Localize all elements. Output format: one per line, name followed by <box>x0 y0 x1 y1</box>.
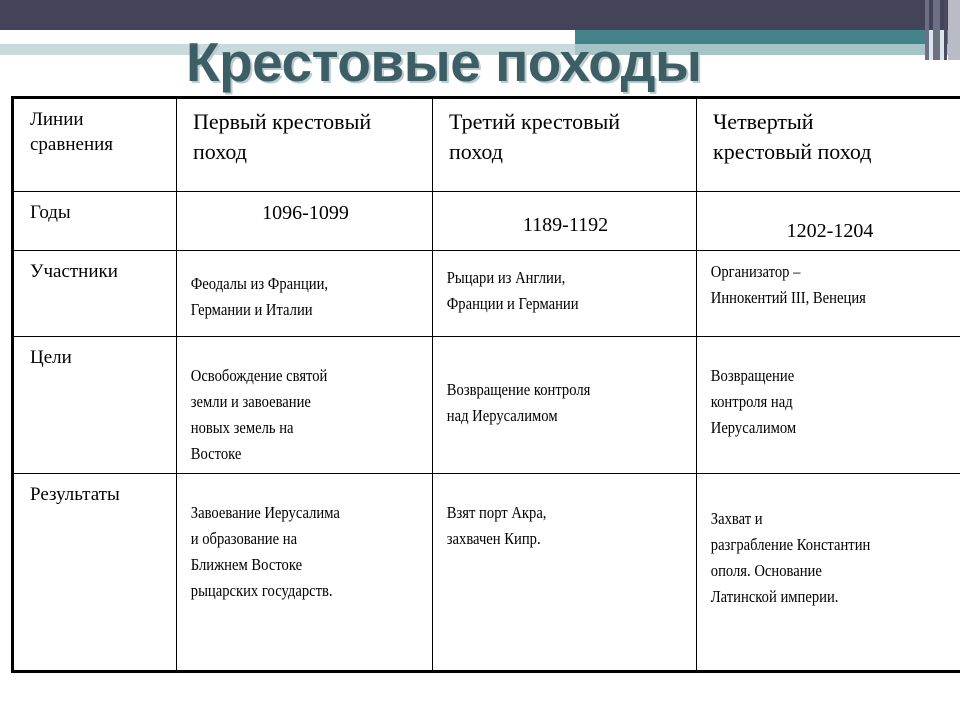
goals-fourth-line1: Возвращение <box>711 363 912 389</box>
goals-fourth-line3: Иерусалимом <box>711 415 912 441</box>
table-header-cell-third-crusade: Третий крестовый поход <box>433 98 697 192</box>
results-fourth-line4: Латинской империи. <box>711 584 912 610</box>
cell-years-fourth: 1202-1204 <box>697 192 960 251</box>
results-first-line2: и образование на <box>191 526 385 552</box>
banner-stripe-wash-1 <box>929 30 933 60</box>
cell-results-fourth: Захват и разграбление Константин ополя. … <box>697 474 960 672</box>
results-first-line4: рыцарских государств. <box>191 578 385 604</box>
cell-goals-first: Освобождение святой земли и завоевание н… <box>177 337 433 474</box>
header-third-line1: Третий крестовый <box>449 107 682 137</box>
results-third-line2: захвачен Кипр. <box>447 526 647 552</box>
table-header-row: Линии сравнения Первый крестовый поход Т… <box>13 98 960 192</box>
results-fourth-line1: Захват и <box>711 506 912 532</box>
page-title: Крестовые походы <box>186 32 702 92</box>
results-third-line1: Взят порт Акра, <box>447 500 647 526</box>
participants-fourth-line2: Иннокентий III, Венеция <box>711 285 912 311</box>
goals-first-line2: земли и завоевание <box>191 389 385 415</box>
results-fourth-line3: ополя. Основание <box>711 558 912 584</box>
years-first-value: 1096-1099 <box>193 200 418 226</box>
header-third-line2: поход <box>449 137 682 167</box>
goals-third-line2: над Иерусалимом <box>447 403 647 429</box>
years-third-value: 1189-1192 <box>449 212 682 238</box>
years-fourth-value: 1202-1204 <box>713 218 947 244</box>
row-label-goals: Цели <box>13 337 177 474</box>
goals-first-line3: новых земель на <box>191 415 385 441</box>
years-label: Годы <box>30 200 162 225</box>
cell-goals-third: Возвращение контроля над Иерусалимом <box>433 337 697 474</box>
banner-stripe-wash-2 <box>940 30 944 60</box>
participants-third-line2: Франции и Германии <box>447 291 647 317</box>
results-fourth-line2: разграбление Константин <box>711 532 912 558</box>
table-row: Годы 1096-1099 1189-1192 1202-1204 <box>13 192 960 251</box>
banner-vertical-stripe-3 <box>944 0 947 60</box>
participants-label: Участники <box>30 259 162 284</box>
participants-third-line1: Рыцари из Англии, <box>447 265 647 291</box>
goals-first-line4: Востоке <box>191 441 385 467</box>
table-header-cell-fourth-crusade: Четвертый крестовый поход <box>697 98 960 192</box>
participants-fourth-line1: Организатор – <box>711 259 912 285</box>
table-row: Результаты Завоевание Иерусалима и образ… <box>13 474 960 672</box>
table-row: Цели Освобождение святой земли и завоева… <box>13 337 960 474</box>
goals-third-line1: Возвращение контроля <box>447 377 647 403</box>
header-fourth-line1: Четвертый <box>713 107 947 137</box>
banner-vertical-stripe-4 <box>948 0 960 60</box>
goals-label: Цели <box>30 345 162 370</box>
goals-fourth-line2: контроля над <box>711 389 912 415</box>
table-row: Участники Феодалы из Франции, Германии и… <box>13 251 960 337</box>
results-label: Результаты <box>30 482 162 507</box>
results-first-line1: Завоевание Иерусалима <box>191 500 385 526</box>
goals-first-line1: Освобождение святой <box>191 363 385 389</box>
header-first-line1: Первый крестовый <box>193 107 418 137</box>
table-header-cell-criteria: Линии сравнения <box>13 98 177 192</box>
header-fourth-line2: крестовый поход <box>713 137 947 167</box>
cell-years-first: 1096-1099 <box>177 192 433 251</box>
cell-participants-first: Феодалы из Франции, Германии и Италии <box>177 251 433 337</box>
participants-first-line2: Германии и Италии <box>191 297 385 323</box>
table-header-cell-first-crusade: Первый крестовый поход <box>177 98 433 192</box>
cell-results-first: Завоевание Иерусалима и образование на Б… <box>177 474 433 672</box>
banner-band-dark <box>0 0 960 30</box>
header-criteria-line2: сравнения <box>30 132 162 157</box>
cell-goals-fourth: Возвращение контроля над Иерусалимом <box>697 337 960 474</box>
row-label-results: Результаты <box>13 474 177 672</box>
crusades-comparison-table: Линии сравнения Первый крестовый поход Т… <box>11 96 960 673</box>
participants-first-line1: Феодалы из Франции, <box>191 271 385 297</box>
header-criteria-line1: Линии <box>30 107 162 132</box>
banner-vertical-stripe-2 <box>933 0 940 60</box>
row-label-participants: Участники <box>13 251 177 337</box>
header-first-line2: поход <box>193 137 418 167</box>
cell-results-third: Взят порт Акра, захвачен Кипр. <box>433 474 697 672</box>
cell-participants-third: Рыцари из Англии, Франции и Германии <box>433 251 697 337</box>
row-label-years: Годы <box>13 192 177 251</box>
cell-years-third: 1189-1192 <box>433 192 697 251</box>
cell-participants-fourth: Организатор – Иннокентий III, Венеция <box>697 251 960 337</box>
results-first-line3: Ближнем Востоке <box>191 552 385 578</box>
